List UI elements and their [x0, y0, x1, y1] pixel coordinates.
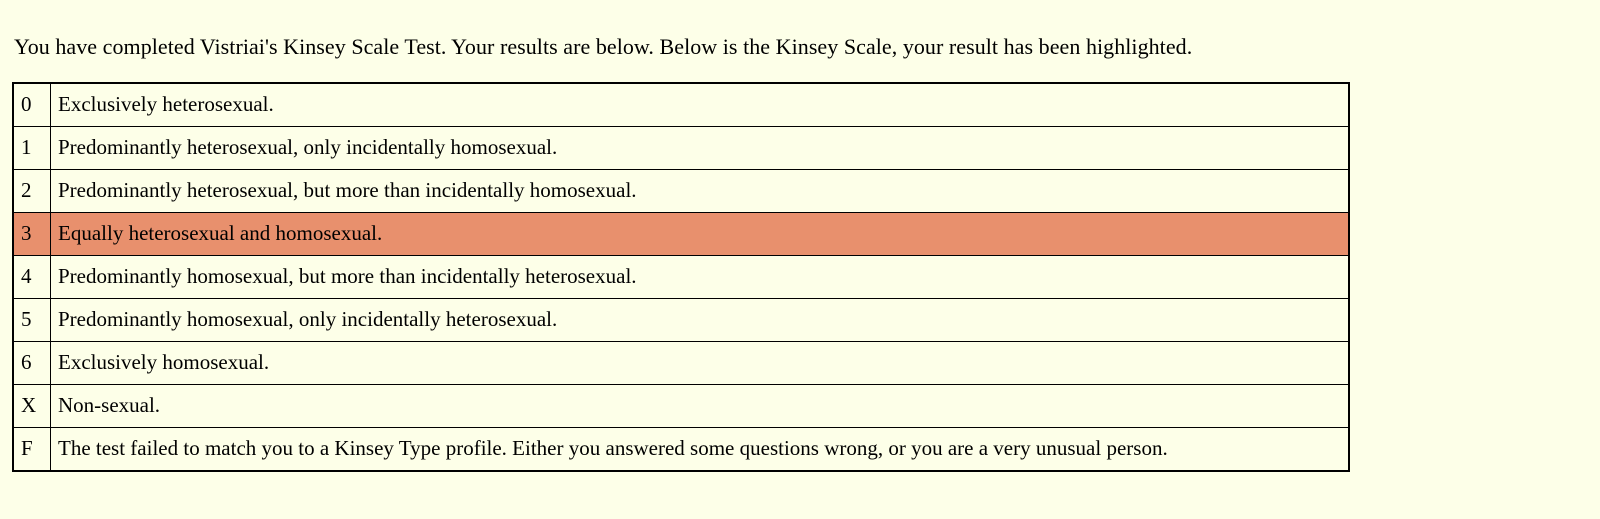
results-intro-text: You have completed Vistriai's Kinsey Sca…	[0, 22, 1600, 59]
kinsey-scale-description: Predominantly heterosexual, only inciden…	[51, 127, 1350, 170]
kinsey-scale-row: 0Exclusively heterosexual.	[13, 83, 1349, 127]
kinsey-scale-row: 2Predominantly heterosexual, but more th…	[13, 170, 1349, 213]
kinsey-scale-description: Equally heterosexual and homosexual.	[51, 213, 1350, 256]
kinsey-scale-description: Predominantly homosexual, but more than …	[51, 256, 1350, 299]
kinsey-scale-row: 4Predominantly homosexual, but more than…	[13, 256, 1349, 299]
kinsey-scale-code: F	[13, 428, 51, 472]
kinsey-scale-code: X	[13, 385, 51, 428]
kinsey-scale-table-wrapper: 0Exclusively heterosexual.1Predominantly…	[0, 82, 1600, 472]
kinsey-scale-row: 3Equally heterosexual and homosexual.	[13, 213, 1349, 256]
kinsey-scale-description: The test failed to match you to a Kinsey…	[51, 428, 1350, 472]
kinsey-scale-code: 4	[13, 256, 51, 299]
kinsey-scale-code: 5	[13, 299, 51, 342]
kinsey-scale-description: Exclusively heterosexual.	[51, 83, 1350, 127]
kinsey-scale-description: Exclusively homosexual.	[51, 342, 1350, 385]
kinsey-scale-code: 6	[13, 342, 51, 385]
kinsey-scale-row: 5Predominantly homosexual, only incident…	[13, 299, 1349, 342]
kinsey-scale-code: 1	[13, 127, 51, 170]
kinsey-scale-description: Predominantly heterosexual, but more tha…	[51, 170, 1350, 213]
kinsey-scale-description: Non-sexual.	[51, 385, 1350, 428]
kinsey-scale-row: XNon-sexual.	[13, 385, 1349, 428]
kinsey-scale-row: 6Exclusively homosexual.	[13, 342, 1349, 385]
kinsey-scale-table: 0Exclusively heterosexual.1Predominantly…	[12, 82, 1350, 472]
kinsey-scale-code: 3	[13, 213, 51, 256]
kinsey-scale-table-body: 0Exclusively heterosexual.1Predominantly…	[13, 83, 1349, 471]
results-page: You have completed Vistriai's Kinsey Sca…	[0, 22, 1600, 472]
kinsey-scale-row: 1Predominantly heterosexual, only incide…	[13, 127, 1349, 170]
kinsey-scale-code: 0	[13, 83, 51, 127]
kinsey-scale-code: 2	[13, 170, 51, 213]
kinsey-scale-description: Predominantly homosexual, only incidenta…	[51, 299, 1350, 342]
kinsey-scale-row: FThe test failed to match you to a Kinse…	[13, 428, 1349, 472]
